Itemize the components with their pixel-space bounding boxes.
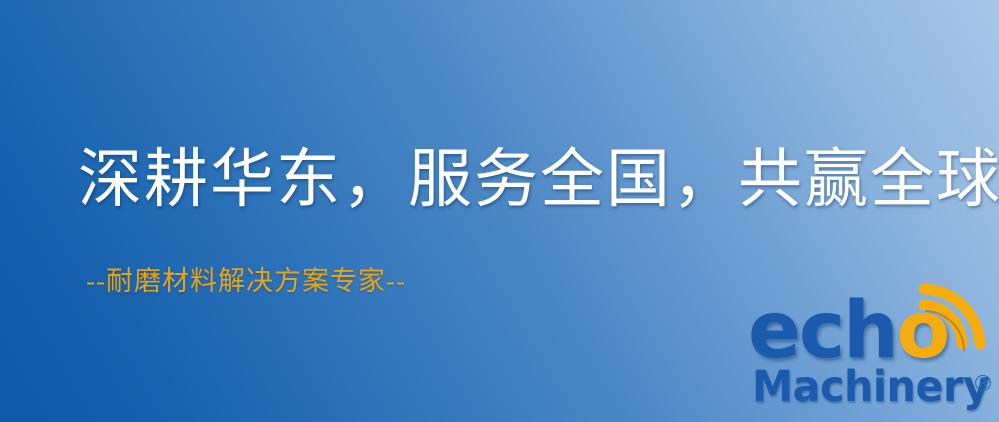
subtitle-text: --耐磨材料解决方案专家-- xyxy=(86,268,406,295)
hero-banner: 深耕华东，服务全国，共赢全球 --耐磨材料解决方案专家-- echo Machi… xyxy=(0,0,999,422)
echo-machinery-logo: echo Machinery ® xyxy=(744,292,999,422)
headline-text: 深耕华东，服务全国，共赢全球 xyxy=(78,148,999,212)
logo-wordmark: echo xyxy=(748,292,948,370)
logo-tagline: Machinery xyxy=(752,366,989,409)
signal-arcs-icon xyxy=(928,290,999,354)
registered-trademark-icon: ® xyxy=(972,374,994,396)
